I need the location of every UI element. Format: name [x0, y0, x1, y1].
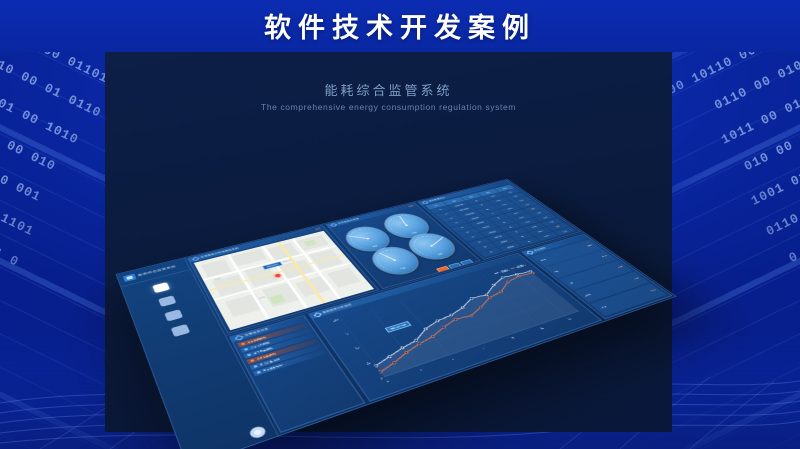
- dashboard-title-en: The comprehensive energy consumption reg…: [105, 102, 672, 112]
- metric-value: 18426: [587, 244, 594, 247]
- bullet-icon: [250, 359, 254, 362]
- logo-icon: [122, 274, 136, 282]
- metric-label: 节能率: [582, 293, 591, 297]
- svg-text:1: 1: [384, 378, 390, 383]
- map-pin-icon[interactable]: [274, 273, 282, 277]
- svg-text:100: 100: [331, 318, 339, 323]
- list-item[interactable]: 数据采集中断: [249, 344, 322, 370]
- diamond-icon: [313, 312, 321, 317]
- metric-value: -3.8%: [617, 266, 624, 269]
- metric-label: 在线率: [599, 306, 608, 310]
- metric-value: +12.4%: [600, 255, 608, 258]
- bullet-icon: [241, 343, 245, 346]
- hand-icon[interactable]: [170, 324, 190, 337]
- list-item[interactable]: 峰值用电预警: [243, 334, 315, 359]
- svg-text:9: 9: [509, 336, 515, 340]
- svg-text:本期能耗: 本期能耗: [497, 268, 510, 274]
- chart-icon[interactable]: [157, 295, 175, 307]
- slide-root: 1010 00 0 010 00 01101 001 10 00 01 0110…: [0, 0, 800, 449]
- svg-text:75: 75: [343, 331, 350, 336]
- bullet-icon: [244, 348, 248, 351]
- chart-tooltip: 本月能耗 2480: [384, 321, 411, 333]
- dashboard-icon[interactable]: [151, 282, 169, 293]
- metric-value: 8.6%: [634, 277, 640, 280]
- metric-label: 同比: [552, 270, 558, 273]
- metric-value: 96.2%: [649, 289, 656, 292]
- list-item: 在线率 96.2%: [590, 283, 666, 316]
- gear-icon[interactable]: [248, 425, 267, 440]
- alert-card-title: 告警信息列表: [244, 328, 269, 338]
- list-item-label: 数据采集中断: [258, 358, 279, 367]
- dashboard-mockup[interactable]: 能耗综合监管系统: [115, 179, 676, 449]
- list-item[interactable]: 月度能耗统计: [252, 350, 325, 377]
- dashboard-main: 区域能耗分布地理信息图 实时: [184, 179, 675, 435]
- svg-text:5: 5: [449, 356, 455, 361]
- list-item-label: 设备离线提醒: [249, 341, 270, 350]
- content-panel: 能耗综合监管系统 The comprehensive energy consum…: [105, 52, 672, 432]
- bullet-icon: [253, 365, 257, 368]
- list-item-label: 线路异常告警: [255, 352, 276, 361]
- dashboard-scene: 能耗综合监管系统: [105, 136, 672, 432]
- svg-text:11: 11: [537, 326, 544, 331]
- bullet-icon: [247, 354, 251, 357]
- svg-text:同期能耗: 同期能耗: [514, 263, 527, 269]
- svg-text:3: 3: [417, 367, 423, 372]
- metric-label: 总能耗: [538, 258, 546, 261]
- bullet-icon: [256, 371, 260, 374]
- list-item-label: 月度能耗统计: [262, 363, 284, 372]
- svg-text:13: 13: [565, 316, 572, 321]
- diamond-icon: [234, 335, 243, 340]
- dashboard-title-cn: 能耗综合监管系统: [105, 80, 672, 99]
- svg-text:25: 25: [364, 360, 371, 365]
- svg-text:0: 0: [378, 376, 384, 381]
- svg-text:50: 50: [353, 345, 360, 350]
- list-item-label: 峰值用电预警: [252, 346, 273, 355]
- qrcode-icon[interactable]: [163, 309, 182, 321]
- page-title: 软件技术开发案例: [0, 6, 800, 45]
- svg-text:7: 7: [480, 346, 486, 351]
- list-item[interactable]: 线路异常告警: [246, 339, 318, 365]
- metric-label: 环比: [567, 282, 573, 285]
